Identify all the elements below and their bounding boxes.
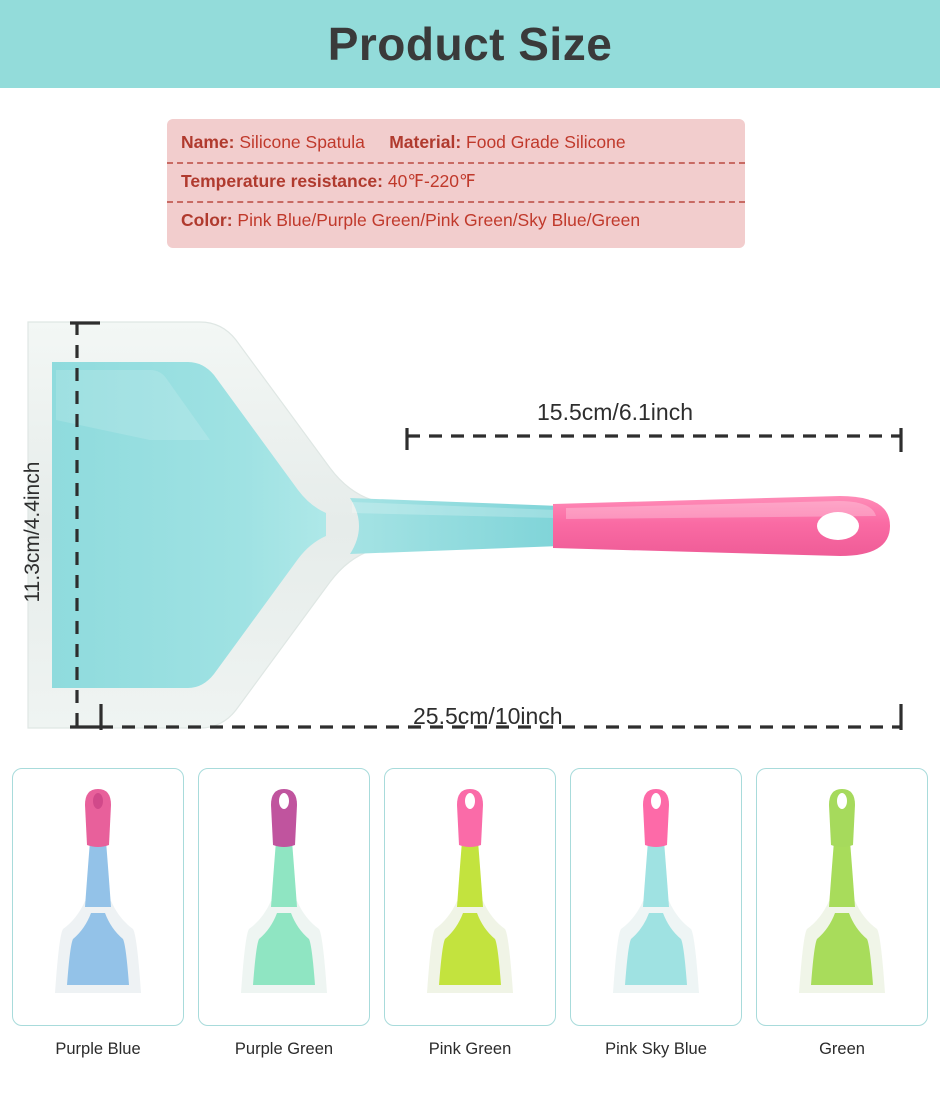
spec-value-color: Pink Blue/Purple Green/Pink Green/Sky Bl… — [237, 210, 640, 230]
dimension-label-handle-length: 15.5cm/6.1inch — [537, 399, 693, 426]
product-spec-box: Name: Silicone Spatula Material: Food Gr… — [167, 119, 745, 248]
spec-value-temperature: 40℉-220℉ — [388, 171, 476, 191]
variant-label: Pink Green — [429, 1040, 512, 1059]
variant-green[interactable]: Green — [756, 768, 928, 1059]
spec-label-name: Name: — [181, 132, 235, 152]
dimension-label-blade-height: 11.3cm/4.4inch — [21, 452, 45, 612]
dimension-label-total-length: 25.5cm/10inch — [413, 703, 563, 730]
variant-pink-green[interactable]: Pink Green — [384, 768, 556, 1059]
spatula-handle-grip — [553, 496, 890, 556]
spec-label-material: Material: — [389, 132, 461, 152]
variant-spatula-icon — [767, 779, 917, 1015]
main-product-illustration — [0, 300, 940, 760]
spec-row-name-material: Name: Silicone Spatula Material: Food Gr… — [167, 125, 745, 162]
variant-card[interactable] — [198, 768, 370, 1026]
spatula-neck — [350, 498, 560, 554]
dimension-handle-length — [407, 428, 902, 452]
variant-label: Green — [819, 1040, 865, 1059]
variant-card[interactable] — [570, 768, 742, 1026]
spec-value-material: Food Grade Silicone — [466, 132, 626, 152]
spec-value-name: Silicone Spatula — [239, 132, 365, 152]
variant-card[interactable] — [384, 768, 556, 1026]
variant-purple-green[interactable]: Purple Green — [198, 768, 370, 1059]
page-title: Product Size — [328, 17, 613, 71]
variant-card[interactable] — [12, 768, 184, 1026]
variant-spatula-icon — [395, 779, 545, 1015]
handle-hanging-hole — [817, 512, 859, 540]
variant-purple-blue[interactable]: Purple Blue — [12, 768, 184, 1059]
spatula-diagram-svg — [0, 300, 940, 760]
spatula-blade — [28, 322, 372, 728]
spec-row-color: Color: Pink Blue/Purple Green/Pink Green… — [167, 201, 745, 240]
variant-label: Purple Green — [235, 1040, 333, 1059]
variant-spatula-icon — [209, 779, 359, 1015]
spec-row-temperature: Temperature resistance: 40℉-220℉ — [167, 162, 745, 201]
spec-label-color: Color: — [181, 210, 233, 230]
variant-label: Pink Sky Blue — [605, 1040, 707, 1059]
variant-label: Purple Blue — [55, 1040, 140, 1059]
color-variant-list: Purple Blue Purple Green Pink Gree — [0, 768, 940, 1059]
variant-pink-sky-blue[interactable]: Pink Sky Blue — [570, 768, 742, 1059]
variant-spatula-icon — [581, 779, 731, 1015]
spec-label-temperature: Temperature resistance: — [181, 171, 383, 191]
variant-spatula-icon — [23, 779, 173, 1015]
header-banner: Product Size — [0, 0, 940, 88]
variant-card[interactable] — [756, 768, 928, 1026]
